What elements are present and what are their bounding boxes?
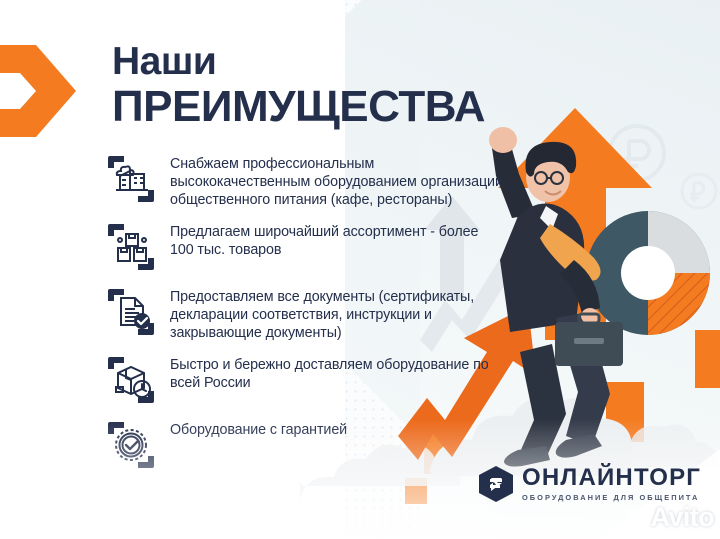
avito-dots-icon	[622, 505, 648, 531]
document-check-icon	[104, 285, 158, 339]
advertisement-poster: Наши ПРЕИМУЩЕСТВА Сн	[0, 0, 720, 539]
list-item-label: Предлагаем широчайший ассортимент - боле…	[170, 220, 504, 259]
avito-watermark: Avito	[622, 502, 715, 533]
page-title: Наши ПРЕИМУЩЕСТВА	[112, 42, 485, 129]
title-line-1: Наши	[112, 42, 485, 81]
brand-name: ОНЛАЙНТОРГ	[522, 466, 701, 490]
list-item-label: Снабжаем профессиональным высококачестве…	[170, 152, 504, 209]
title-line-2: ПРЕИМУЩЕСТВА	[112, 85, 485, 129]
stacked-boxes-icon	[104, 220, 158, 274]
factory-building-icon	[104, 152, 158, 206]
avito-watermark-label: Avito	[651, 502, 715, 533]
list-item: Предлагаем широчайший ассортимент - боле…	[104, 220, 504, 274]
list-item-label: Предоставляем все документы (сертификаты…	[170, 285, 504, 342]
chevron-right-logo-icon	[0, 45, 78, 137]
package-clock-icon	[104, 353, 158, 407]
onlinetorg-cube-logo-icon	[479, 466, 513, 502]
list-item: Быстро и бережно доставляем оборудование…	[104, 353, 504, 407]
list-item: Снабжаем профессиональным высококачестве…	[104, 152, 504, 209]
list-item-label: Быстро и бережно доставляем оборудование…	[170, 353, 504, 392]
brand-logo: ОНЛАЙНТОРГ ОБОРУДОВАНИЕ ДЛЯ ОБЩЕПИТА	[479, 466, 701, 502]
list-item: Предоставляем все документы (сертификаты…	[104, 285, 504, 342]
brand-tagline: ОБОРУДОВАНИЕ ДЛЯ ОБЩЕПИТА	[522, 494, 701, 501]
